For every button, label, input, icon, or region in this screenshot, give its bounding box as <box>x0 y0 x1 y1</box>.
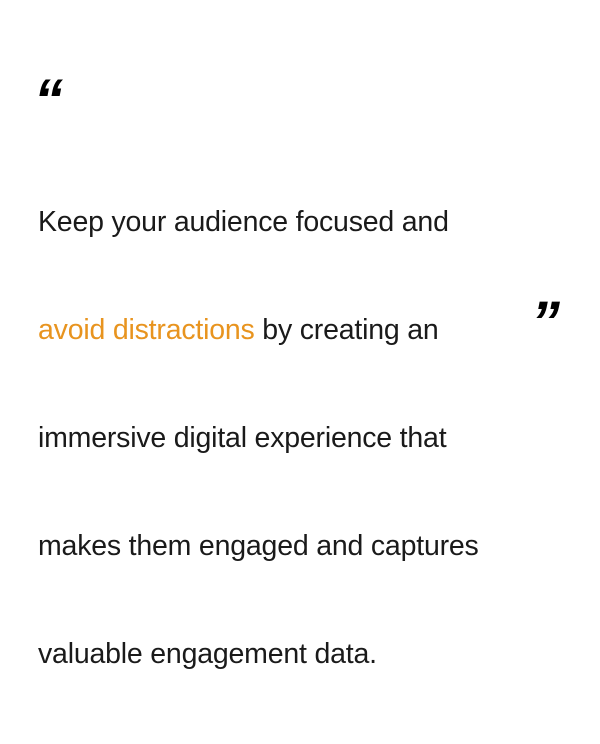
quote-segment: by creating an <box>255 314 439 346</box>
open-quote-icon: “ <box>34 72 62 130</box>
quote-segment-highlight: avoid distractions <box>38 314 255 346</box>
quote-line: makes them engaged and captures <box>38 528 558 564</box>
quote-line: Keep your audience focused and <box>38 204 558 240</box>
quote-line: valuable engagement data. <box>38 636 558 672</box>
close-quote-icon: ” <box>531 294 559 352</box>
quote-segment: makes them engaged and captures <box>38 530 479 562</box>
quote-text: Keep your audience focused and avoid dis… <box>38 132 558 744</box>
quote-line: immersive digital experience that <box>38 420 558 456</box>
quote-segment: Keep your audience focused and <box>38 206 449 238</box>
quote-slide: “ Keep your audience focused and avoid d… <box>0 0 600 450</box>
quote-line: avoid distractions by creating an <box>38 312 558 348</box>
quote-segment: immersive digital experience that <box>38 422 446 454</box>
quote-segment: valuable engagement data. <box>38 638 377 670</box>
pull-quote: “ Keep your audience focused and avoid d… <box>0 0 600 450</box>
